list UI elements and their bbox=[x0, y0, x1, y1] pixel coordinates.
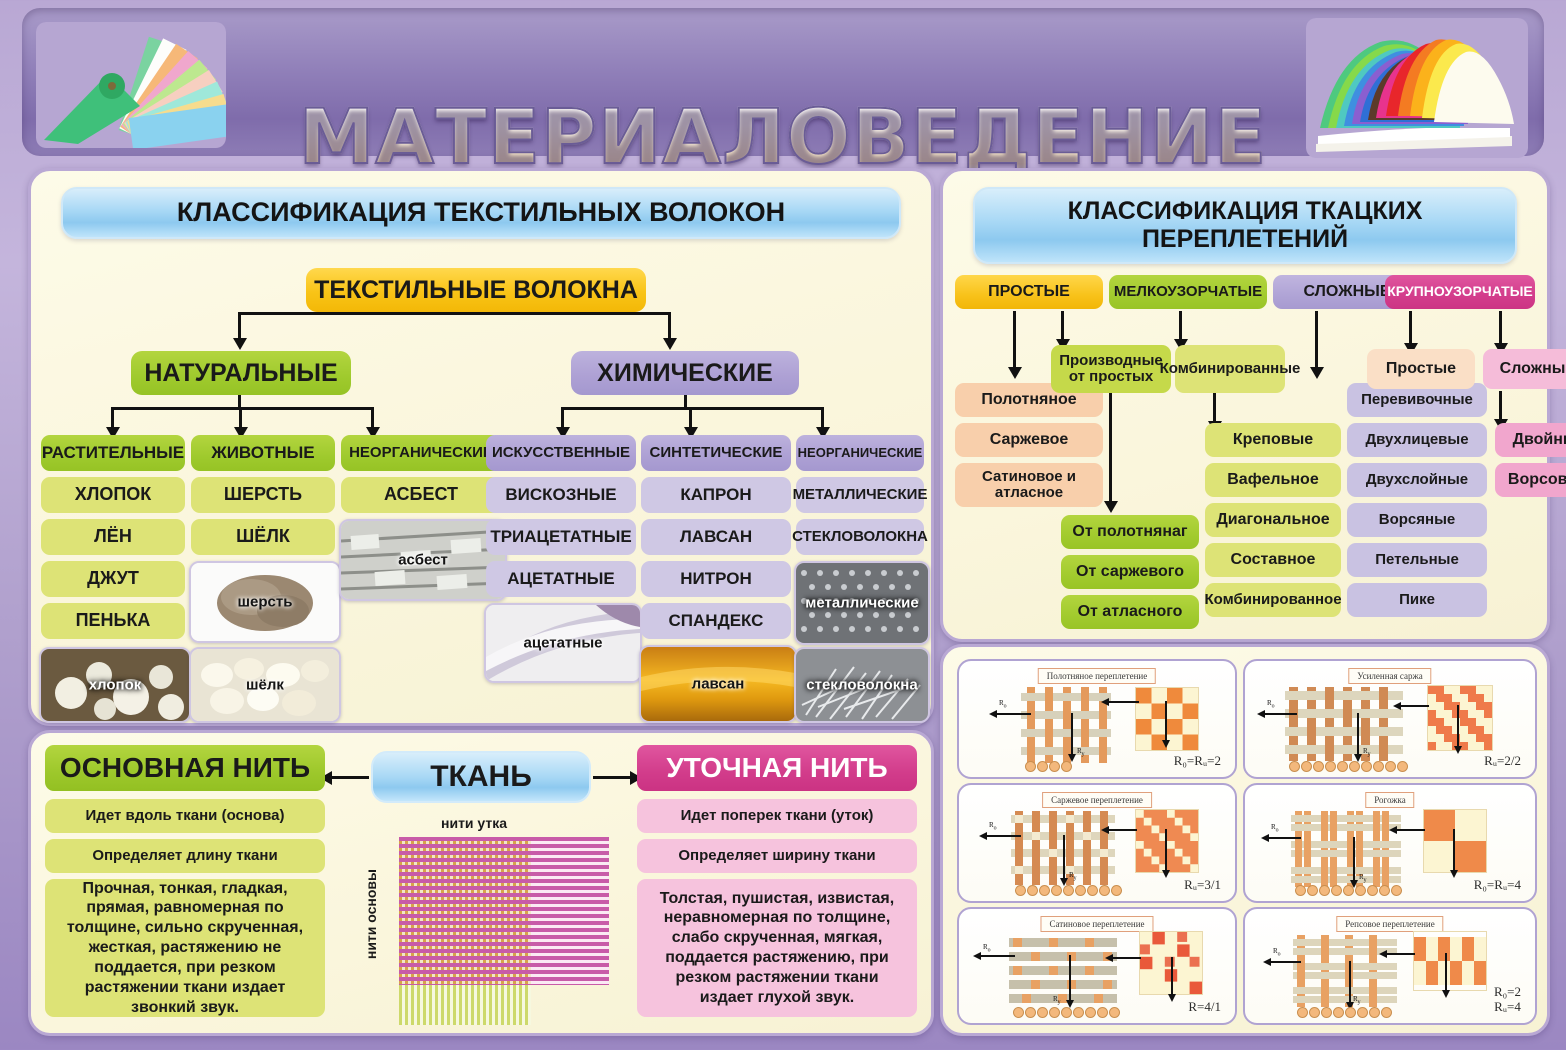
diagram-formula: R=4/1 bbox=[1188, 1000, 1221, 1015]
fabric-center-label: ТКАНЬ bbox=[371, 751, 591, 803]
diagram-formula: R₀=2 Rᵤ=4 bbox=[1494, 985, 1521, 1015]
weft-header: УТОЧНАЯ НИТЬ bbox=[637, 745, 917, 791]
photo-caption: стекловолокна bbox=[796, 677, 928, 694]
photo-silk: шёлк bbox=[189, 647, 341, 723]
fiber-item-kapron: КАПРОН bbox=[641, 477, 791, 513]
fabric-stack-image bbox=[1306, 18, 1528, 158]
diagram-title: Сатиновое переплетение bbox=[1040, 916, 1153, 932]
weave-combined-item-2: Вафельное bbox=[1205, 463, 1341, 497]
fiber-group-chem-inorganic-header: НЕОРГАНИЧЕСКИЕ bbox=[796, 435, 924, 471]
warp-fact-2: Определяет длину ткани bbox=[45, 839, 325, 873]
fiber-item-flax: ЛЁН bbox=[41, 519, 185, 555]
photo-acetate: ацетатные bbox=[484, 603, 642, 683]
photo-cotton: хлопок bbox=[39, 647, 191, 723]
fiber-item-nitron: НИТРОН bbox=[641, 561, 791, 597]
fiber-item-wool: ШЕРСТЬ bbox=[191, 477, 335, 513]
weave-simple-item-3: Сатиновое и атласное bbox=[955, 463, 1103, 507]
warp-header: ОСНОВНАЯ НИТЬ bbox=[45, 745, 325, 791]
weave-col-large-pattern-header: КРУПНОУЗОРЧАТЫЕ bbox=[1385, 275, 1535, 309]
diagram-cell-twill-2-2: Усиленная саржа bbox=[1243, 659, 1537, 779]
weave-sub-combined: Комбинированные bbox=[1175, 345, 1285, 393]
warp-fact-1: Идет вдоль ткани (основа) bbox=[45, 799, 325, 833]
fiber-item-viscose: ВИСКОЗНЫЕ bbox=[486, 477, 636, 513]
diagram-cell-satin: Сатиновое переплетение bbox=[957, 907, 1237, 1025]
photo-caption: лавсан bbox=[641, 676, 795, 693]
diagram-cell-basket: Рогожка bbox=[1243, 783, 1537, 903]
photo-caption: асбест bbox=[341, 552, 505, 569]
fiber-item-jute: ДЖУТ bbox=[41, 561, 185, 597]
fiber-group-plant-header: РАСТИТЕЛЬНЫЕ bbox=[41, 435, 185, 471]
photo-caption: шёлк bbox=[191, 677, 339, 694]
weave-col-small-pattern-header: МЕЛКОУЗОРЧАТЫЕ bbox=[1109, 275, 1267, 309]
weave-complex-item-3: Двухслойные bbox=[1347, 463, 1487, 497]
weave-combined-item-3: Диагональное bbox=[1205, 503, 1341, 537]
fiber-item-asbestos: АСБЕСТ bbox=[341, 477, 501, 513]
photo-caption: ацетатные bbox=[486, 635, 640, 652]
warp-threads-label: нити основы bbox=[363, 869, 379, 959]
photo-caption: металлические bbox=[796, 595, 928, 612]
poster-root: МАТЕРИАЛОВЕДЕНИЕ bbox=[0, 0, 1566, 1050]
diagram-title: Полотняное переплетение bbox=[1038, 668, 1156, 684]
photo-caption: шерсть bbox=[191, 594, 339, 611]
photo-fiberglass: стекловолокна bbox=[794, 647, 930, 723]
photo-caption: хлопок bbox=[41, 677, 189, 694]
weave-combined-item-4: Составное bbox=[1205, 543, 1341, 577]
diagram-cell-rep: Репсовое переплетение bbox=[1243, 907, 1537, 1025]
fiber-item-silk: ШЁЛК bbox=[191, 519, 335, 555]
weft-fact-2: Определяет ширину ткани bbox=[637, 839, 917, 873]
weave-complex-item-6: Пике bbox=[1347, 583, 1487, 617]
fiber-item-cotton: ХЛОПОК bbox=[41, 477, 185, 513]
weft-threads-label: нити утка bbox=[441, 815, 507, 831]
weave-large-sub-simple: Простые bbox=[1367, 349, 1475, 389]
diagram-title: Рогожка bbox=[1365, 792, 1414, 808]
fiber-item-lavsan: ЛАВСАН bbox=[641, 519, 791, 555]
diagram-title: Репсовое переплетение bbox=[1336, 916, 1443, 932]
diagram-title: Саржевое переплетение bbox=[1042, 792, 1152, 808]
diagram-formula: R₀=Rᵤ=4 bbox=[1474, 878, 1521, 893]
diagram-cell-twill-3-1: Саржевое переплетение bbox=[957, 783, 1237, 903]
weave-derived-item-3: От атласного bbox=[1061, 595, 1199, 629]
fiber-panel-title: КЛАССИФИКАЦИЯ ТЕКСТИЛЬНЫХ ВОЛОКОН bbox=[61, 187, 901, 239]
weave-combined-item-5: Комбинированное bbox=[1205, 583, 1341, 617]
weave-simple-item-2: Саржевое bbox=[955, 423, 1103, 457]
weft-fact-1: Идет поперек ткани (уток) bbox=[637, 799, 917, 833]
weave-combined-item-1: Креповые bbox=[1205, 423, 1341, 457]
weave-derived-item-2: От саржевого bbox=[1061, 555, 1199, 589]
weave-large-item-2: Ворсовые bbox=[1495, 463, 1566, 497]
weft-description: Толстая, пушистая, извистая, неравномерн… bbox=[637, 879, 917, 1017]
weave-large-item-1: Двойные bbox=[1495, 423, 1566, 457]
fiber-group-artificial-header: ИСКУССТВЕННЫЕ bbox=[486, 435, 636, 471]
fiber-branch-chemical: ХИМИЧЕСКИЕ bbox=[571, 351, 799, 395]
panel-thread-comparison: ТКАНЬ ОСНОВНАЯ НИТЬ Идет вдоль ткани (ос… bbox=[28, 730, 934, 1036]
panel-weave-classification: КЛАССИФИКАЦИЯ ТКАЦКИХ ПЕРЕПЛЕТЕНИЙ ПРОСТ… bbox=[940, 168, 1550, 642]
photo-wool: шерсть bbox=[189, 561, 341, 643]
warp-description: Прочная, тонкая, гладкая, прямая, равном… bbox=[45, 879, 325, 1017]
fiber-item-spandex: СПАНДЕКС bbox=[641, 603, 791, 639]
weave-large-sub-complex: Сложные bbox=[1483, 349, 1566, 389]
fiber-item-acetate: АЦЕТАТНЫЕ bbox=[486, 561, 636, 597]
weave-complex-item-4: Ворсяные bbox=[1347, 503, 1487, 537]
fiber-branch-natural: НАТУРАЛЬНЫЕ bbox=[131, 351, 351, 395]
panel-weave-diagrams: Полотняное переплетение bbox=[940, 644, 1550, 1036]
photo-lavsan: лавсан bbox=[639, 645, 797, 723]
weave-col-simple-header: ПРОСТЫЕ bbox=[955, 275, 1103, 309]
weave-derived-item-1: От полотнянаг bbox=[1061, 515, 1199, 549]
weave-complex-item-2: Двухлицевые bbox=[1347, 423, 1487, 457]
fiber-item-fiberglass: СТЕКЛОВОЛОКНА bbox=[796, 519, 924, 555]
fiber-group-animal-header: ЖИВОТНЫЕ bbox=[191, 435, 335, 471]
fiber-group-inorganic-header: НЕОРГАНИЧЕСКИЕ bbox=[341, 435, 501, 471]
weave-complex-item-5: Петельные bbox=[1347, 543, 1487, 577]
poster-header: МАТЕРИАЛОВЕДЕНИЕ bbox=[22, 8, 1544, 156]
diagram-formula: R₀=Rᵤ=2 bbox=[1174, 754, 1221, 769]
fabric-schematic: нити утка нити основы bbox=[361, 815, 611, 1025]
weave-panel-title: КЛАССИФИКАЦИЯ ТКАЦКИХ ПЕРЕПЛЕТЕНИЙ bbox=[973, 187, 1517, 264]
weave-sub-derived-from-simple: Производные от простых bbox=[1051, 345, 1171, 393]
diagram-title: Усиленная саржа bbox=[1348, 668, 1431, 684]
diagram-cell-plain: Полотняное переплетение bbox=[957, 659, 1237, 779]
fiber-item-hemp: ПЕНЬКА bbox=[41, 603, 185, 639]
diagram-formula: Rᵤ=2/2 bbox=[1484, 754, 1521, 769]
photo-metallic: металлические bbox=[794, 561, 930, 645]
fiber-item-triacetate: ТРИАЦЕТАТНЫЕ bbox=[486, 519, 636, 555]
photo-asbestos: асбест bbox=[339, 519, 507, 601]
diagram-formula: Rᵤ=3/1 bbox=[1184, 878, 1221, 893]
fiber-item-metallic: МЕТАЛЛИЧЕСКИЕ bbox=[796, 477, 924, 513]
fiber-group-synthetic-header: СИНТЕТИЧЕСКИЕ bbox=[641, 435, 791, 471]
fiber-root-box: ТЕКСТИЛЬНЫЕ ВОЛОКНА bbox=[306, 268, 646, 312]
panel-fiber-classification: КЛАССИФИКАЦИЯ ТЕКСТИЛЬНЫХ ВОЛОКОН ТЕКСТИ… bbox=[28, 168, 934, 726]
